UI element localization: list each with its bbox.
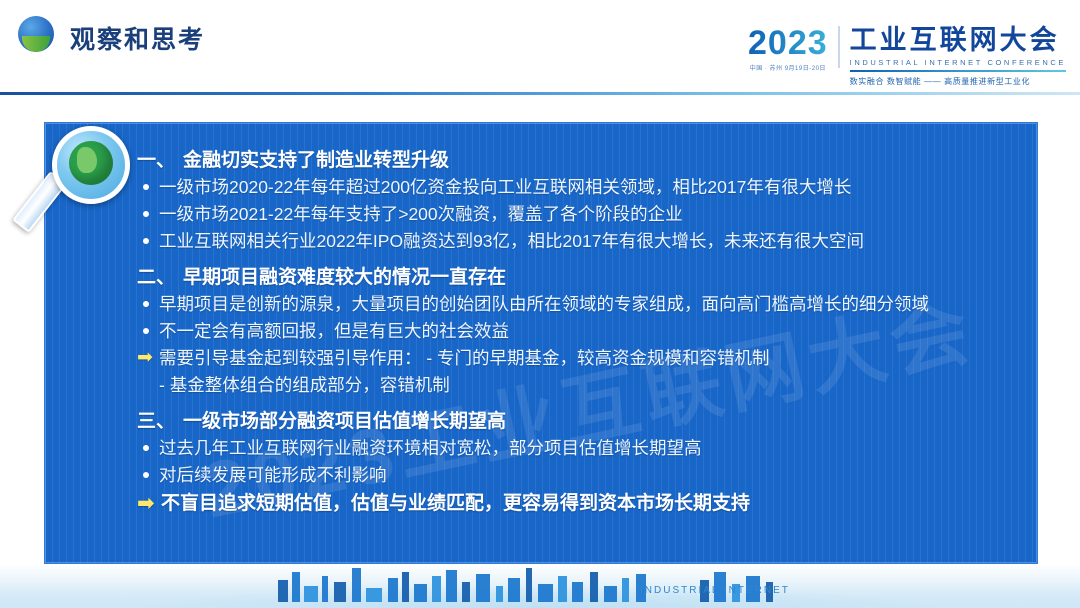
skyline-building [446,570,457,602]
section-title-1: 金融切实支持了制造业转型升级 [183,145,449,172]
bullet-dot-icon [143,445,149,451]
list-item-text: - 基金整体组合的组成部分，容错机制 [159,375,450,395]
right-arrow-icon: ➡ [137,489,155,519]
skyline-caption: INDUSTRIAL INTERNET [640,585,790,596]
section-number-2: 二、 [137,262,175,289]
list-item-text: 早期项目是创新的源泉，大量项目的创始团队由所在领域的专家组成，面向高门槛高增长的… [159,294,929,314]
list-item: 过去几年工业互联网行业融资环境相对宽松，部分项目估值增长期望高 [137,435,1023,461]
bullet-dot-icon [143,238,149,244]
skyline-building [278,580,288,602]
skyline-building [622,578,629,602]
skyline-building [432,576,441,602]
logo-divider [838,26,840,68]
section-bullets-2: 早期项目是创新的源泉，大量项目的创始团队由所在领域的专家组成，面向高门槛高增长的… [137,291,1023,398]
right-arrow-icon: ➡ [137,347,153,369]
skyline-building [496,586,503,602]
skyline-building [304,586,318,602]
bullet-dot-icon [143,301,149,307]
page-title: 观察和思考 [70,20,205,56]
section-title-2: 早期项目融资难度较大的情况一直存在 [183,262,506,289]
logo-underline [850,70,1066,72]
conclusion-text: 不盲目追求短期估值，估值与业绩匹配，更容易得到资本市场长期支持 [161,493,750,514]
list-item-text: 不一定会有高额回报，但是有巨大的社会效益 [159,321,509,341]
skyline-building [590,572,598,602]
list-item-sub: - 基金整体组合的组成部分，容错机制 [137,372,1023,398]
skyline-building [558,576,567,602]
conference-logo: 2023 中国 · 苏州 9月19日-20日 工业互联网大会 INDUSTRIA… [748,26,1066,82]
skyline-building [572,582,583,602]
skyline-building [292,572,300,602]
list-item-text: 一级市场2020-22年每年超过200亿资金投向工业互联网相关领域，相比2017… [159,177,851,197]
bullet-dot-icon [143,472,149,478]
list-item-arrow: ➡需要引导基金起到较强引导作用： - 专门的早期基金，较高资金规模和容错机制 [137,345,1023,371]
conference-tagline: 数实融合 数智赋能 —— 高质量推进新型工业化 [850,76,1066,87]
skyline-building [508,578,520,602]
bullet-dot-icon [143,184,149,190]
content-panel: 2023工业互联网大会 一、 金融切实支持了制造业转型升级 一级市场2020-2… [44,122,1038,564]
city-skyline-icon: INDUSTRIAL INTERNET [0,564,1080,608]
page-header: 观察和思考 2023 中国 · 苏州 9月19日-20日 工业互联网大会 IND… [0,0,1080,96]
list-item: 工业互联网相关行业2022年IPO融资达到93亿，相比2017年有很大增长，未来… [137,228,1023,254]
skyline-building [366,588,382,602]
skyline-building [322,576,328,602]
bullet-dot-icon [143,328,149,334]
circle-globe-logo-icon [18,16,54,52]
list-item-text: 工业互联网相关行业2022年IPO融资达到93亿，相比2017年有很大增长，未来… [159,231,864,251]
list-item: 一级市场2020-22年每年超过200亿资金投向工业互联网相关领域，相比2017… [137,174,1023,200]
conference-year: 2023 [748,26,828,60]
conclusion-line: ➡ 不盲目追求短期估值，估值与业绩匹配，更容易得到资本市场长期支持 [137,489,1023,519]
list-item-text: 对后续发展可能形成不利影响 [159,465,387,485]
section-heading-1: 一、 金融切实支持了制造业转型升级 [137,145,1023,172]
skyline-building [352,568,361,602]
list-item: 一级市场2021-22年每年支持了>200次融资，覆盖了各个阶段的企业 [137,201,1023,227]
section-number-3: 三、 [137,406,175,433]
conference-name-en: INDUSTRIAL INTERNET CONFERENCE [850,58,1066,67]
header-divider [0,92,1080,95]
skyline-building [334,582,346,602]
section-number-1: 一、 [137,145,175,172]
skyline-building [402,572,409,602]
section-heading-2: 二、 早期项目融资难度较大的情况一直存在 [137,262,1023,289]
skyline-building [388,578,398,602]
section-bullets-1: 一级市场2020-22年每年超过200亿资金投向工业互联网相关领域，相比2017… [137,174,1023,254]
skyline-building [414,584,427,602]
skyline-building [476,574,490,602]
list-item: 早期项目是创新的源泉，大量项目的创始团队由所在领域的专家组成，面向高门槛高增长的… [137,291,1023,317]
list-item: 对后续发展可能形成不利影响 [137,462,1023,488]
conference-date-location: 中国 · 苏州 9月19日-20日 [750,63,826,72]
list-item-text: 一级市场2021-22年每年支持了>200次融资，覆盖了各个阶段的企业 [159,204,683,224]
section-heading-3: 三、 一级市场部分融资项目估值增长期望高 [137,406,1023,433]
section-bullets-3: 过去几年工业互联网行业融资环境相对宽松，部分项目估值增长期望高 对后续发展可能形… [137,435,1023,488]
list-item-text: 需要引导基金起到较强引导作用： - 专门的早期基金，较高资金规模和容错机制 [159,348,770,368]
skyline-building [526,568,532,602]
conference-name-cn: 工业互联网大会 [850,26,1066,54]
list-item-text: 过去几年工业互联网行业融资环境相对宽松，部分项目估值增长期望高 [159,438,702,458]
section-title-3: 一级市场部分融资项目估值增长期望高 [183,406,506,433]
skyline-building [538,584,553,602]
skyline-building [604,586,617,602]
list-item: 不一定会有高额回报，但是有巨大的社会效益 [137,318,1023,344]
panel-content: 一、 金融切实支持了制造业转型升级 一级市场2020-22年每年超过200亿资金… [137,137,1023,519]
bullet-dot-icon [143,211,149,217]
skyline-building [462,582,470,602]
